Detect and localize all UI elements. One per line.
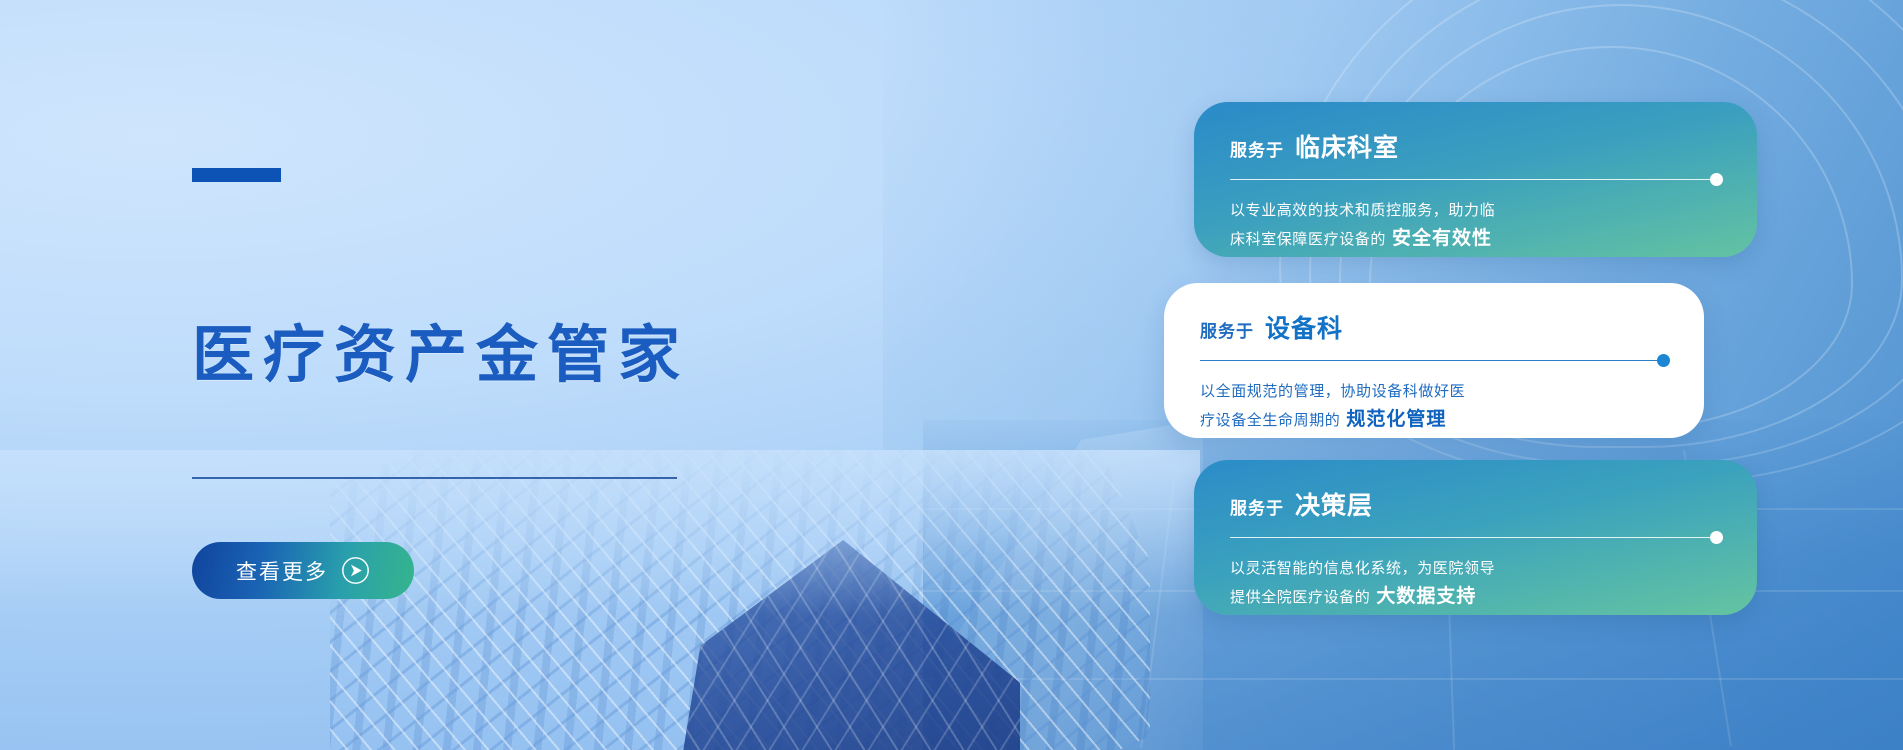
card-rule-line <box>1230 179 1721 180</box>
card-description-line1: 以专业高效的技术和质控服务，助力临 <box>1230 197 1721 225</box>
service-card-equipment[interactable]: 服务于 设备科 以全面规范的管理，协助设备科做好医 疗设备全生命周期的规范化管理 <box>1164 283 1704 438</box>
card-description-line2-text: 疗设备全生命周期的 <box>1200 412 1340 429</box>
card-description-line1: 以灵活智能的信息化系统，为医院领导 <box>1230 555 1721 583</box>
card-description-line1: 以全面规范的管理，协助设备科做好医 <box>1200 378 1668 406</box>
card-title: 决策层 <box>1295 486 1373 522</box>
card-rule-dot <box>1710 173 1723 186</box>
card-prefix: 服务于 <box>1200 317 1254 342</box>
card-description-line2-text: 提供全院医疗设备的 <box>1230 589 1370 606</box>
card-prefix: 服务于 <box>1230 136 1284 161</box>
card-heading: 服务于 设备科 <box>1200 309 1668 345</box>
card-title: 设备科 <box>1265 309 1343 345</box>
card-rule-dot <box>1710 531 1723 544</box>
card-prefix: 服务于 <box>1230 494 1284 519</box>
card-description-line2: 床科室保障医疗设备的安全有效性 <box>1230 225 1721 254</box>
view-more-label: 查看更多 <box>236 556 328 586</box>
card-description: 以灵活智能的信息化系统，为医院领导 提供全院医疗设备的大数据支持 <box>1230 555 1721 612</box>
service-card-decision[interactable]: 服务于 决策层 以灵活智能的信息化系统，为医院领导 提供全院医疗设备的大数据支持 <box>1194 460 1757 615</box>
card-description: 以全面规范的管理，协助设备科做好医 疗设备全生命周期的规范化管理 <box>1200 378 1668 435</box>
hero-divider <box>192 477 677 479</box>
card-description: 以专业高效的技术和质控服务，助力临 床科室保障医疗设备的安全有效性 <box>1230 197 1721 254</box>
card-description-line2: 提供全院医疗设备的大数据支持 <box>1230 583 1721 612</box>
card-description-line2: 疗设备全生命周期的规范化管理 <box>1200 406 1668 435</box>
service-card-clinical[interactable]: 服务于 临床科室 以专业高效的技术和质控服务，助力临 床科室保障医疗设备的安全有… <box>1194 102 1757 257</box>
card-title: 临床科室 <box>1295 128 1399 164</box>
hero-left-content: 医疗资产金管家 查看更多 <box>192 0 832 750</box>
card-description-highlight: 安全有效性 <box>1392 228 1492 249</box>
card-description-line2-text: 床科室保障医疗设备的 <box>1230 231 1386 248</box>
card-description-highlight: 大数据支持 <box>1376 586 1476 607</box>
card-rule-line <box>1200 360 1668 361</box>
arrow-right-circle-icon <box>341 556 370 585</box>
card-description-highlight: 规范化管理 <box>1346 409 1446 430</box>
card-rule <box>1230 173 1721 186</box>
card-rule <box>1230 531 1721 544</box>
view-more-button[interactable]: 查看更多 <box>192 542 414 599</box>
page-title: 医疗资产金管家 <box>192 325 689 387</box>
card-rule-line <box>1230 537 1721 538</box>
card-rule <box>1200 354 1668 367</box>
card-rule-dot <box>1657 354 1670 367</box>
card-heading: 服务于 决策层 <box>1230 486 1721 522</box>
service-card-list: 服务于 临床科室 以专业高效的技术和质控服务，助力临 床科室保障医疗设备的安全有… <box>1164 0 1864 750</box>
accent-dash <box>192 168 281 182</box>
hero-banner: 医疗资产金管家 查看更多 服务于 临床科室 以专业高效的技术 <box>0 0 1903 750</box>
card-heading: 服务于 临床科室 <box>1230 128 1721 164</box>
